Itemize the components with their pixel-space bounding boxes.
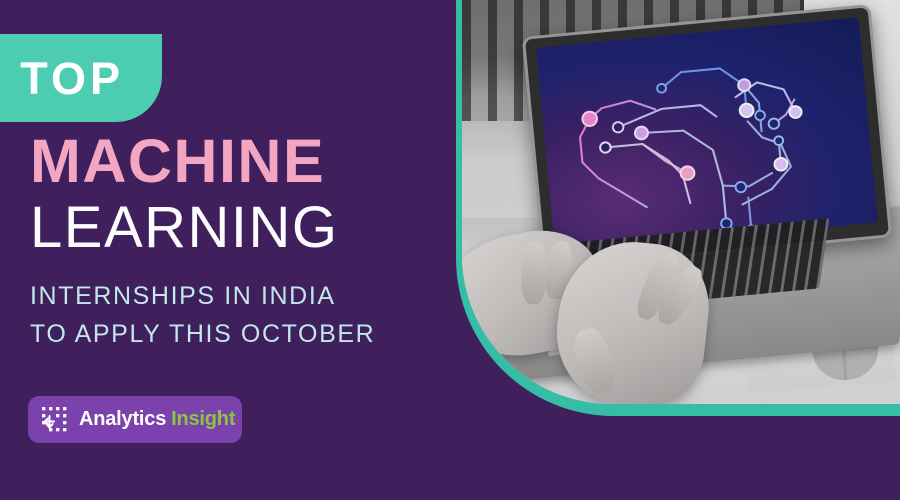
promo-banner: TOP MACHINE LEARNING INTERNSHIPS IN INDI… — [0, 0, 900, 500]
logo-word-analytics: Analytics — [79, 408, 166, 430]
subtitle-line-1: INTERNSHIPS IN INDIA — [30, 277, 450, 315]
dot-grid-arrow-icon — [40, 405, 70, 435]
photo-color-grade — [462, 0, 900, 404]
headline-line-learning: LEARNING — [30, 196, 450, 260]
top-badge-label: TOP — [20, 56, 124, 101]
top-badge: TOP — [0, 34, 162, 122]
headline-line-machine: MACHINE — [30, 132, 450, 192]
subtitle-line-2: TO APPLY THIS OCTOBER — [30, 315, 450, 353]
photo-panel — [462, 0, 900, 404]
logo-wordmark: AnalyticsInsight — [79, 408, 235, 431]
analytics-insight-logo[interactable]: AnalyticsInsight — [28, 396, 242, 443]
subtitle: INTERNSHIPS IN INDIA TO APPLY THIS OCTOB… — [30, 277, 450, 353]
logo-word-insight: Insight — [171, 408, 235, 430]
page-title: MACHINE LEARNING — [30, 132, 450, 260]
